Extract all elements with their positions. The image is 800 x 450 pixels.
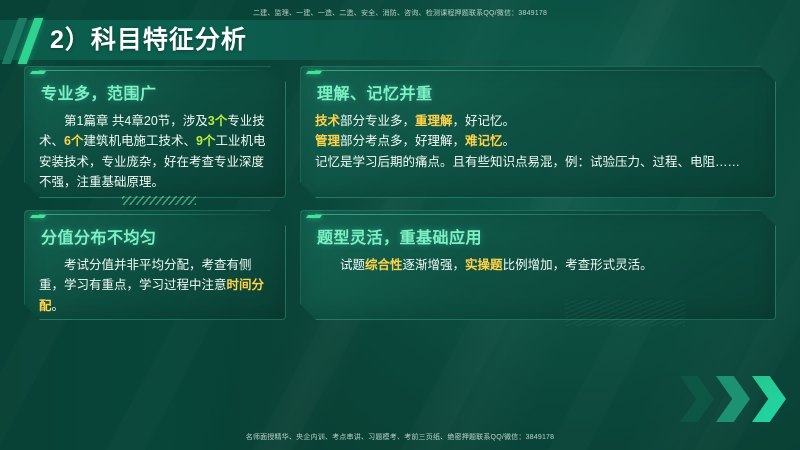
bottom-marquee-text: 名师面授精华、央企内训、考点串讲、习题模考、考前三页纸、绝密押题联系QQ/微信：…	[0, 432, 800, 442]
card-body: 试题综合性逐渐增强，实操题比例增加，考查形式灵活。	[315, 255, 761, 275]
card-title: 题型灵活，重基础应用	[317, 224, 761, 248]
card-major-scope: 专业多，范围广 第1篇章 共4章20节，涉及3个专业技术、6个建筑机电施工技术、…	[24, 66, 286, 198]
chevron-right-icon	[752, 376, 786, 422]
card-title: 分值分布不均匀	[41, 224, 271, 248]
card-body: 技术部分专业多，重理解，好记忆。管理部分考点多，好理解，难记忆。记忆是学习后期的…	[315, 111, 761, 172]
card-body: 考试分值并非平均分配，考查有侧重，学习有重点，学习过程中注意时间分配。	[39, 255, 271, 316]
chevron-arrows-decoration	[680, 376, 786, 422]
top-marquee-text: 二建、监理、一建、一造、二造、安全、消防、咨询、检测课程押题联系QQ/微信：38…	[0, 8, 800, 18]
card-understand-memorize: 理解、记忆并重 技术部分专业多，重理解，好记忆。管理部分考点多，好理解，难记忆。…	[300, 66, 776, 198]
slide-canvas: 二建、监理、一建、一造、二造、安全、消防、咨询、检测课程押题联系QQ/微信：38…	[0, 0, 800, 450]
card-flexible-question-types: 题型灵活，重基础应用 试题综合性逐渐增强，实操题比例增加，考查形式灵活。	[300, 210, 776, 320]
card-body: 第1篇章 共4章20节，涉及3个专业技术、6个建筑机电施工技术、9个工业机电安装…	[39, 111, 271, 192]
card-score-distribution: 分值分布不均匀 考试分值并非平均分配，考查有侧重，学习有重点，学习过程中注意时间…	[24, 210, 286, 320]
chevron-right-icon	[716, 376, 750, 422]
chevron-right-icon	[680, 376, 714, 422]
slash-decoration-icon	[0, 20, 48, 60]
page-title: 2）科目特征分析	[50, 28, 247, 53]
title-bar: 2）科目特征分析	[0, 20, 640, 60]
cards-grid: 专业多，范围广 第1篇章 共4章20节，涉及3个专业技术、6个建筑机电施工技术、…	[24, 66, 776, 320]
card-title: 专业多，范围广	[41, 80, 271, 104]
card-title: 理解、记忆并重	[317, 80, 761, 104]
